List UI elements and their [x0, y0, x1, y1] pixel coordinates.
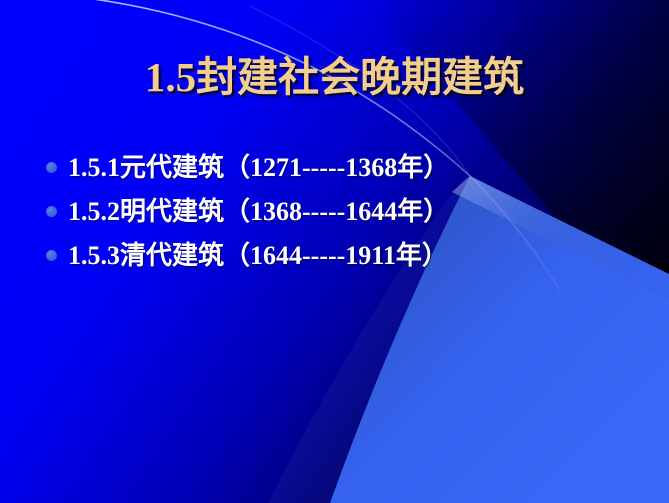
list-item[interactable]: 1.5.3清代建筑（1644-----1911年）: [40, 234, 640, 278]
slide-title: 1.5封建社会晚期建筑: [0, 52, 669, 102]
list-item-label: 1.5.3清代建筑（1644-----1911年）: [68, 241, 448, 270]
bullet-dot-icon: [46, 250, 57, 261]
bullet-list: 1.5.1元代建筑（1271-----1368年） 1.5.2明代建筑（1368…: [40, 146, 640, 278]
presentation-slide: 1.5封建社会晚期建筑 1.5.1元代建筑（1271-----1368年） 1.…: [0, 0, 669, 503]
bullet-dot-icon: [46, 206, 57, 217]
bullet-dot-icon: [46, 162, 57, 173]
list-item-label: 1.5.2明代建筑（1368-----1644年）: [68, 197, 449, 226]
list-item-label: 1.5.1元代建筑（1271-----1368年）: [68, 153, 449, 182]
list-item[interactable]: 1.5.2明代建筑（1368-----1644年）: [40, 190, 640, 234]
list-item[interactable]: 1.5.1元代建筑（1271-----1368年）: [40, 146, 640, 190]
slide-content: 1.5封建社会晚期建筑 1.5.1元代建筑（1271-----1368年） 1.…: [0, 0, 669, 503]
